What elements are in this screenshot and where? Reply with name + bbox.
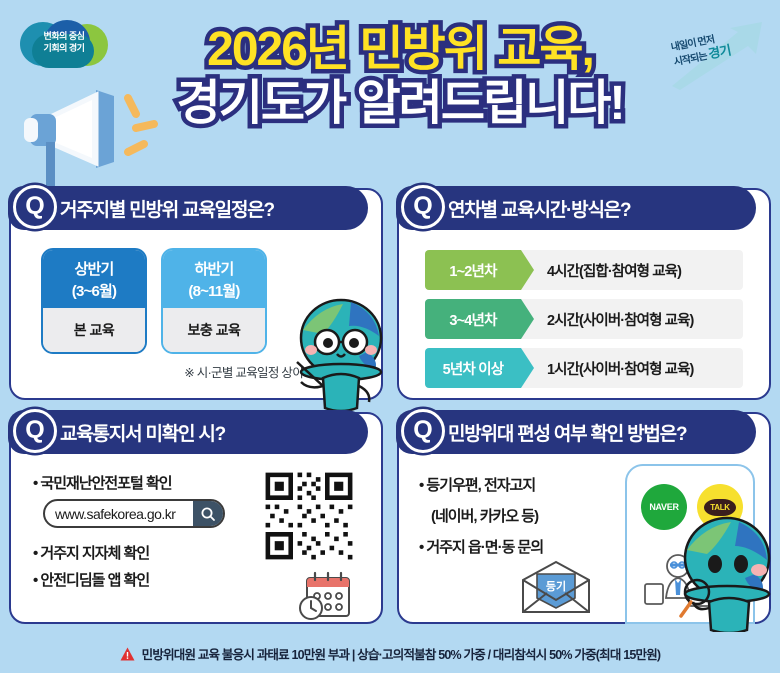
- halfyear-header-first: 상반기 (3~6월): [43, 250, 145, 308]
- search-icon: [200, 506, 216, 522]
- question-badge-icon: Q: [13, 185, 57, 229]
- card-header: Q 연차별 교육시간·방식은?: [396, 186, 756, 230]
- q-letter: Q: [413, 418, 432, 443]
- card-body: 상반기 (3~6월) 본 교육 하반기 (8~11월) 보충 교육 ※ 시·군별…: [11, 236, 381, 398]
- card-header: Q 거주지별 민방위 교육일정은?: [8, 186, 368, 230]
- q-letter: Q: [25, 418, 44, 443]
- tier-row: 1~2년차 4시간(집합·참여형 교육): [425, 250, 743, 290]
- poster-header: 변화의 중심 기회의 경기 내일이 먼저 시작되는 경기: [0, 0, 780, 182]
- infographic-poster: 변화의 중심 기회의 경기 내일이 먼저 시작되는 경기: [0, 0, 780, 673]
- card-annual-hours: Q 연차별 교육시간·방식은? 1~2년차 4시간(집합·참여형 교육) 3~4…: [397, 188, 771, 400]
- period-label: 하반기: [194, 258, 233, 279]
- tier-desc-3: 1시간(사이버·참여형 교육): [521, 358, 693, 379]
- q-letter: Q: [25, 194, 44, 219]
- logo-line-1: 변화의 중심: [18, 30, 110, 42]
- card-notice-not-received: Q 교육통지서 미확인 시? • 국민재난안전포털 확인 www.safekor…: [9, 412, 383, 624]
- tier-label-1: 1~2년차: [425, 250, 521, 290]
- card-title: 민방위대 편성 여부 확인 방법은?: [448, 419, 686, 446]
- url-search-box[interactable]: www.safekorea.go.kr: [43, 499, 225, 528]
- search-button[interactable]: [193, 501, 223, 526]
- card-header: Q 교육통지서 미확인 시?: [8, 410, 368, 454]
- card-unit-membership-check: Q 민방위대 편성 여부 확인 방법은? • 등기우편, 전자고지 (네이버, …: [397, 412, 771, 624]
- card-title: 교육통지서 미확인 시?: [60, 419, 225, 446]
- footer-warning: 민방위대원 교육 불응시 과태료 10만원 부과 | 상습·고의적불참 50% …: [0, 634, 780, 673]
- bullet-item-2: • 거주지 지자체 확인: [33, 542, 243, 563]
- training-type-first: 본 교육: [43, 308, 145, 352]
- gyeonggi-slogan-logo: 내일이 먼저 시작되는 경기: [666, 14, 770, 92]
- qr-code-icon[interactable]: [261, 468, 357, 564]
- tier-label-2: 3~4년차: [425, 299, 521, 339]
- bullet-item-2: (네이버, 카카오 등): [419, 505, 619, 526]
- halfyear-box-first: 상반기 (3~6월) 본 교육: [41, 248, 147, 354]
- tier-row: 3~4년차 2시간(사이버·참여형 교육): [425, 299, 743, 339]
- bullet-list: • 등기우편, 전자고지 (네이버, 카카오 등) • 거주지 읍·면·동 문의: [419, 474, 619, 567]
- card-title: 거주지별 민방위 교육일정은?: [60, 195, 274, 222]
- bullet-list: • 국민재난안전포털 확인 www.safekorea.go.kr • 거주지 …: [33, 472, 243, 596]
- card-body: 1~2년차 4시간(집합·참여형 교육) 3~4년차 2시간(사이버·참여형 교…: [399, 236, 769, 398]
- question-badge-icon: Q: [401, 409, 445, 453]
- qa-card-grid: Q 거주지별 민방위 교육일정은? 상반기 (3~6월) 본 교육: [0, 182, 780, 634]
- title-line-1: 2026년 민방위 교육,: [140, 26, 660, 74]
- tier-row: 5년차 이상 1시간(사이버·참여형 교육): [425, 348, 743, 388]
- question-badge-icon: Q: [13, 409, 57, 453]
- globe-mascot-pointing-icon: [289, 290, 393, 414]
- title-line-2: 경기도가 알려드립니다!: [140, 80, 660, 128]
- bullet-item-3: • 거주지 읍·면·동 문의: [419, 536, 619, 557]
- tier-desc-2: 2시간(사이버·참여형 교육): [521, 309, 693, 330]
- bullet-item-3: • 안전디딤돌 앱 확인: [33, 569, 243, 590]
- bullet-item-1: • 등기우편, 전자고지: [419, 474, 619, 495]
- card-header: Q 민방위대 편성 여부 확인 방법은?: [396, 410, 756, 454]
- bullet-item-1: • 국민재난안전포털 확인: [33, 472, 243, 493]
- period-months: (3~6월): [72, 280, 116, 301]
- halfyear-box-row: 상반기 (3~6월) 본 교육 하반기 (8~11월) 보충 교육: [41, 248, 267, 354]
- tier-desc-1: 4시간(집합·참여형 교육): [521, 260, 681, 281]
- card-body: • 국민재난안전포털 확인 www.safekorea.go.kr • 거주지 …: [11, 460, 381, 622]
- gyeonggi-brand-logo: 변화의 중심 기회의 경기: [18, 18, 110, 70]
- logo-line-2: 기회의 경기: [18, 42, 110, 54]
- card-body: • 등기우편, 전자고지 (네이버, 카카오 등) • 거주지 읍·면·동 문의…: [399, 460, 769, 622]
- poster-title: 2026년 민방위 교육, 경기도가 알려드립니다!: [140, 26, 660, 128]
- period-label: 상반기: [74, 258, 113, 279]
- halfyear-box-second: 하반기 (8~11월) 보충 교육: [161, 248, 267, 354]
- envelope-icon: 등기: [519, 560, 593, 616]
- period-months: (8~11월): [188, 280, 239, 301]
- halfyear-header-second: 하반기 (8~11월): [163, 250, 265, 308]
- url-text: www.safekorea.go.kr: [45, 506, 193, 522]
- envelope-label: 등기: [546, 579, 566, 593]
- tier-label-3: 5년차 이상: [425, 348, 521, 388]
- globe-mascot-magnifier-icon: [671, 510, 780, 632]
- card-residence-schedule: Q 거주지별 민방위 교육일정은? 상반기 (3~6월) 본 교육: [9, 188, 383, 400]
- card-title: 연차별 교육시간·방식은?: [448, 195, 630, 222]
- calendar-clock-icon: [293, 570, 359, 624]
- footer-text: 민방위대원 교육 불응시 과태료 10만원 부과 | 상습·고의적불참 50% …: [142, 644, 661, 663]
- question-badge-icon: Q: [401, 185, 445, 229]
- warning-triangle-icon: [120, 647, 135, 661]
- q-letter: Q: [413, 194, 432, 219]
- schedule-note: ※ 시·군별 교육일정 상이: [184, 362, 303, 381]
- logo-text: 변화의 중심 기회의 경기: [18, 30, 110, 54]
- training-type-second: 보충 교육: [163, 308, 265, 352]
- tier-list: 1~2년차 4시간(집합·참여형 교육) 3~4년차 2시간(사이버·참여형 교…: [425, 250, 743, 388]
